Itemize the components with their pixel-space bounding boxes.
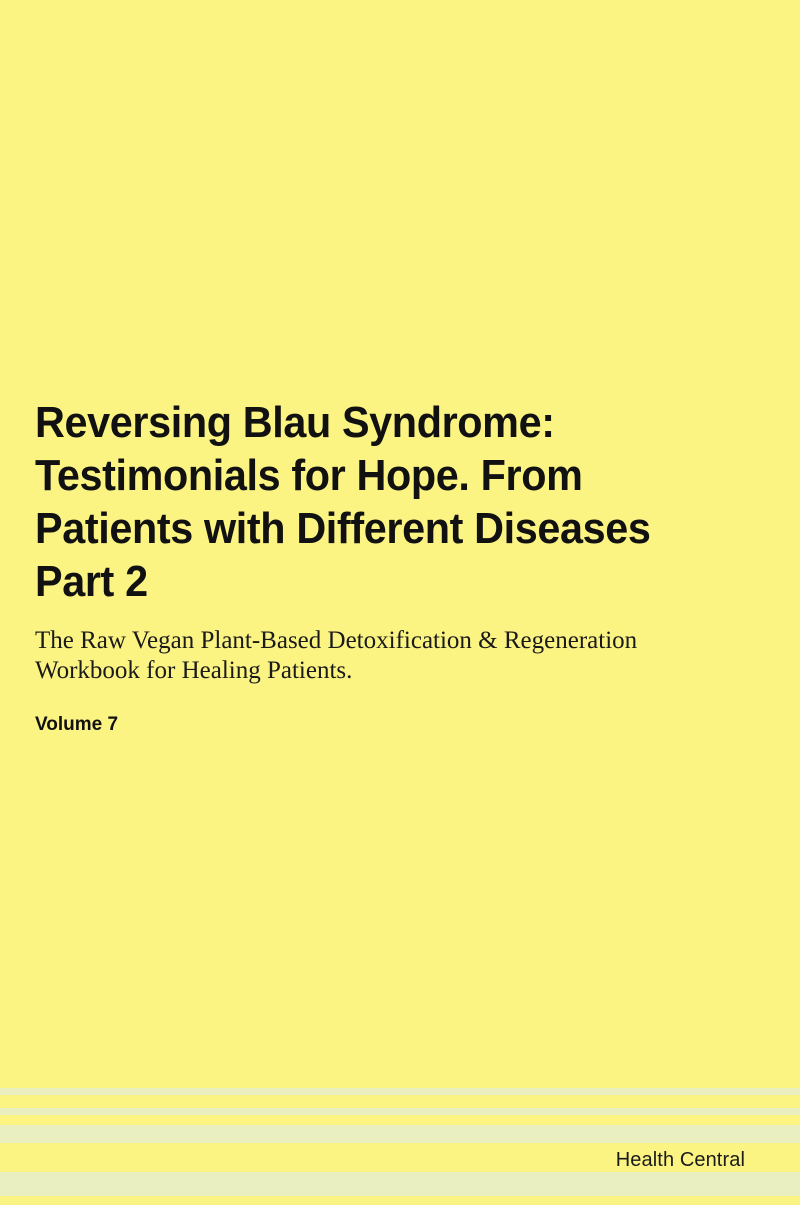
stripe-band <box>0 1172 800 1196</box>
stripe-band <box>0 1088 800 1095</box>
page-title: Reversing Blau Syndrome: Testimonials fo… <box>35 396 684 608</box>
book-cover: Reversing Blau Syndrome: Testimonials fo… <box>0 0 800 1205</box>
cover-text-block: Reversing Blau Syndrome: Testimonials fo… <box>35 396 740 736</box>
stripe-band <box>0 1108 800 1115</box>
publisher-name: Health Central <box>616 1148 745 1172</box>
volume-label: Volume 7 <box>35 686 740 736</box>
cover-subtitle: The Raw Vegan Plant-Based Detoxification… <box>35 608 735 686</box>
stripe-band <box>0 1125 800 1143</box>
decorative-stripes <box>0 1080 800 1205</box>
